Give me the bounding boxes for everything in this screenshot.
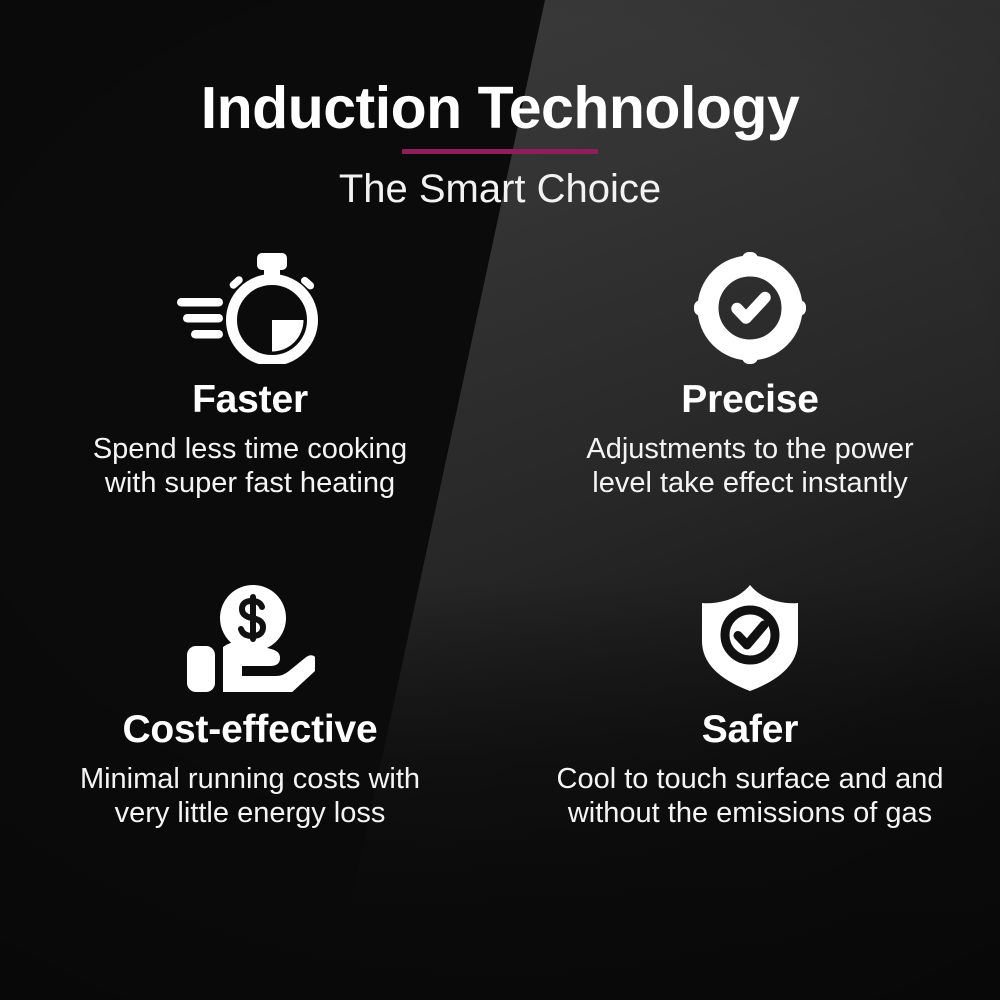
page-title: Induction Technology bbox=[0, 78, 1000, 138]
page-subtitle: The Smart Choice bbox=[0, 167, 1000, 211]
feature-description: Spend less time cooking with super fast … bbox=[93, 432, 407, 500]
feature-title: Precise bbox=[681, 380, 818, 421]
feature-card-safer: Safer Cool to touch surface and and with… bbox=[500, 582, 1000, 912]
poster-content: Induction Technology The Smart Choice bbox=[0, 0, 1000, 1000]
feature-description: Adjustments to the power level take effe… bbox=[586, 432, 913, 500]
feature-desc-line-2: very little energy loss bbox=[115, 797, 386, 829]
feature-card-precise: Precise Adjustments to the power level t… bbox=[500, 252, 1000, 582]
feature-title: Cost-effective bbox=[122, 710, 377, 751]
feature-title: Faster bbox=[192, 380, 308, 421]
feature-grid: Faster Spend less time cooking with supe… bbox=[0, 252, 1000, 912]
induction-technology-poster: Induction Technology The Smart Choice bbox=[0, 0, 1000, 1000]
feature-description: Cool to touch surface and and without th… bbox=[557, 762, 944, 830]
target-check-icon bbox=[694, 252, 806, 364]
feature-desc-line-1: Minimal running costs with bbox=[80, 763, 420, 795]
shield-check-icon bbox=[698, 582, 802, 694]
feature-description: Minimal running costs with very little e… bbox=[80, 762, 420, 830]
feature-desc-line-2: with super fast heating bbox=[105, 467, 395, 499]
feature-desc-line-1: Adjustments to the power bbox=[586, 433, 913, 465]
feature-card-faster: Faster Spend less time cooking with supe… bbox=[0, 252, 500, 582]
feature-desc-line-2: without the emissions of gas bbox=[568, 797, 932, 829]
feature-desc-line-1: Cool to touch surface and and bbox=[557, 763, 944, 795]
feature-title: Safer bbox=[702, 710, 799, 751]
poster-header: Induction Technology The Smart Choice bbox=[0, 78, 1000, 211]
stopwatch-speed-icon bbox=[175, 252, 325, 364]
hand-coin-dollar-icon bbox=[185, 582, 315, 694]
feature-desc-line-1: Spend less time cooking bbox=[93, 433, 407, 465]
feature-desc-line-2: level take effect instantly bbox=[592, 467, 907, 499]
feature-card-cost-effective: Cost-effective Minimal running costs wit… bbox=[0, 582, 500, 912]
title-accent-rule bbox=[402, 149, 598, 154]
